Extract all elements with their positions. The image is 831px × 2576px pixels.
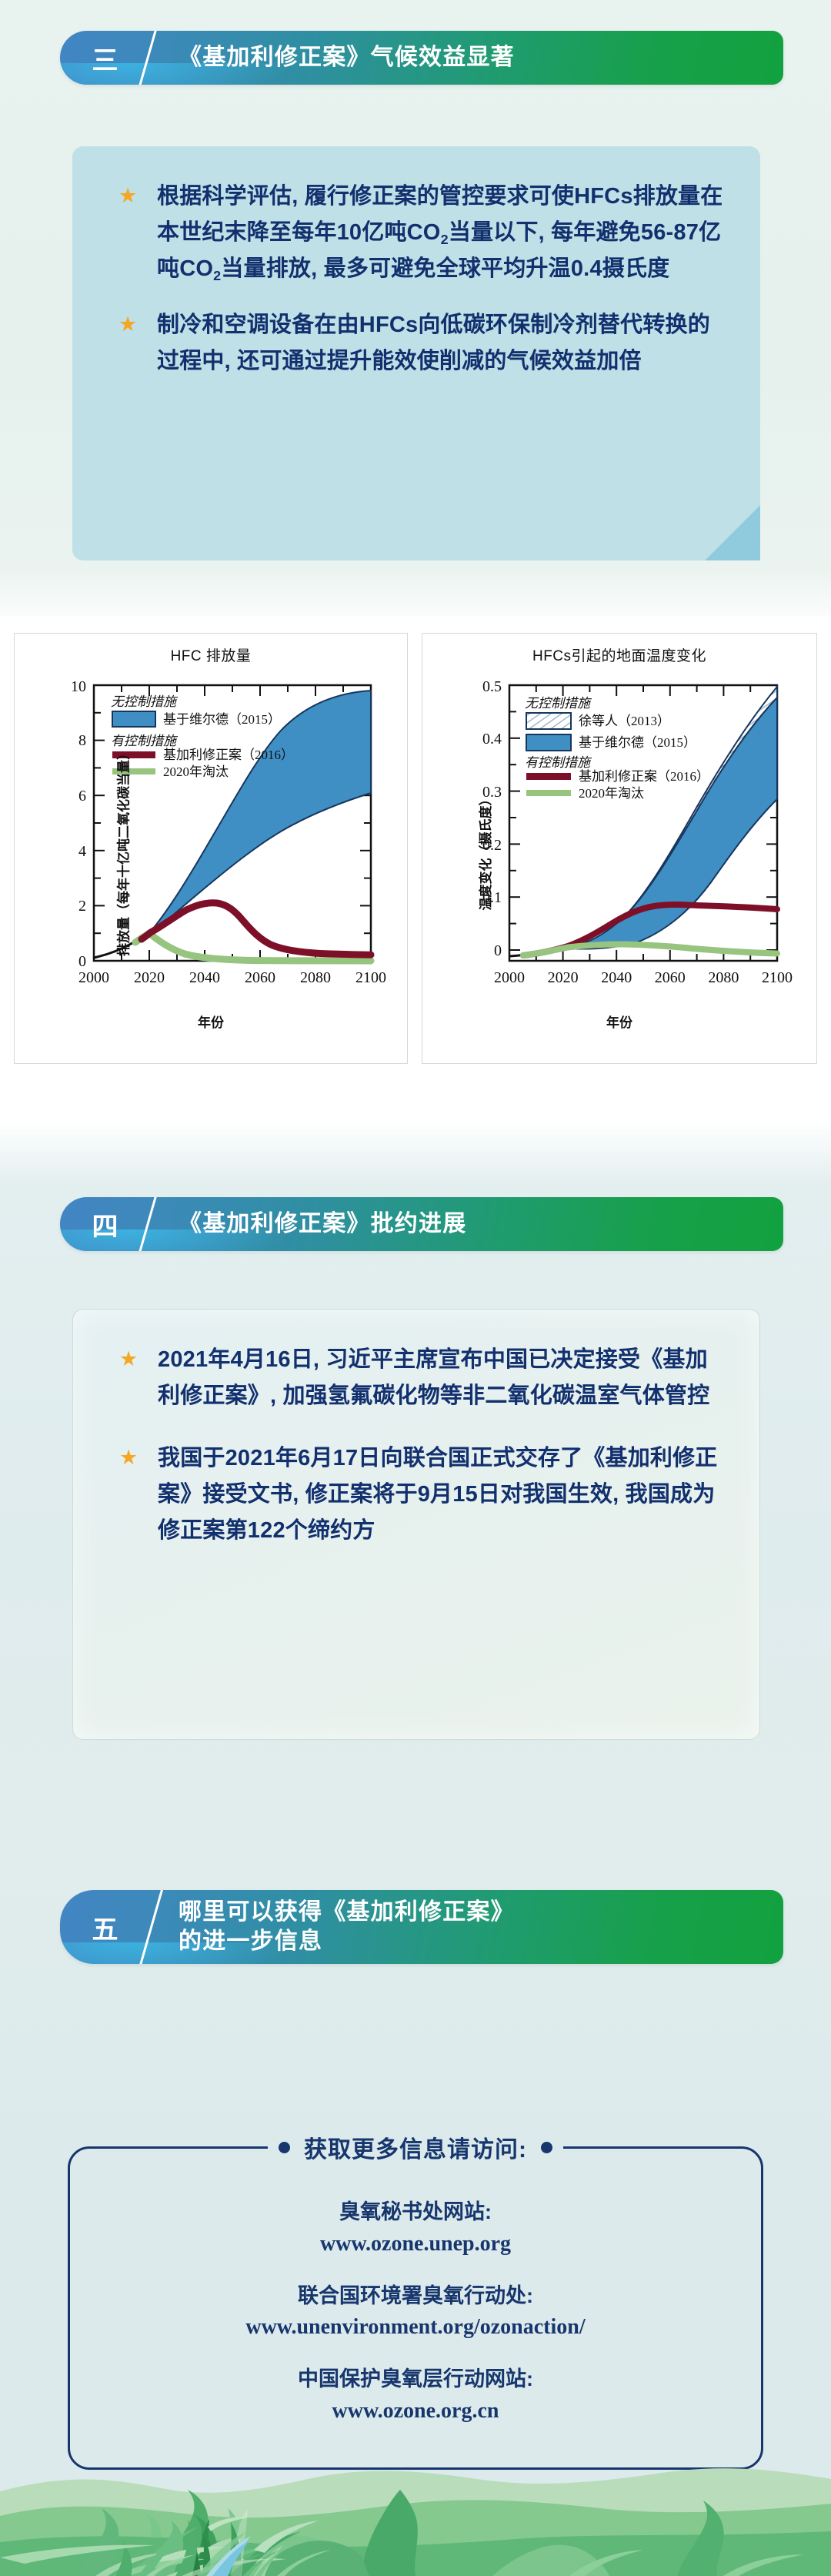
- y-tick-label: 0.4: [482, 731, 502, 748]
- bullet-list-3: ★ 根据科学评估, 履行修正案的管控要求可使HFCs排放量在本世纪末降至每年10…: [115, 179, 729, 400]
- legend-entry-label: 2020年淘汰: [163, 764, 229, 779]
- y-tick-label: 0.5: [482, 678, 502, 695]
- chart-hfc-temperature: HFCs引起的地面温度变化 温度变化（摄氏度）: [422, 633, 817, 1064]
- legend-entry-label: 2020年淘汰: [579, 786, 644, 801]
- y-tick-label: 8: [78, 732, 86, 749]
- bullet-text: 根据科学评估, 履行修正案的管控要求可使HFCs排放量在本世纪末降至每年10亿吨…: [157, 184, 723, 281]
- y-tick-label: 10: [71, 678, 86, 695]
- section-title-3: 《基加利修正案》气候效益显著: [179, 43, 515, 72]
- x-tick-label: 2080: [300, 969, 331, 986]
- y-tick-label: 4: [78, 843, 86, 860]
- y-tick-label: 0: [494, 942, 502, 959]
- contact-label: 联合国环境署臭氧行动处:: [70, 2280, 761, 2312]
- chart-y-axis-label: 温度变化（摄氏度）: [475, 792, 494, 910]
- legend-entry-label: 基加利修正案（2016）: [579, 769, 709, 784]
- plot-area: 排放量（每年十亿吨二氧化碳当量）: [15, 671, 407, 1031]
- section-title-5: 哪里可以获得《基加利修正案》 的进一步信息: [179, 1898, 515, 1957]
- section-number-4: 四: [60, 1206, 151, 1243]
- chart-x-axis-label: 年份: [15, 1012, 407, 1031]
- content-card-3: ★ 根据科学评估, 履行修正案的管控要求可使HFCs排放量在本世纪末降至每年10…: [72, 146, 760, 560]
- contact-heading: 获取更多信息请访问:: [304, 2130, 527, 2164]
- contact-item: 臭氧秘书处网站: www.ozone.unep.org: [70, 2196, 761, 2260]
- x-tick-label: 2100: [762, 969, 793, 986]
- chart-svg: 0 2 4 6 8 10 2000 2020 2040 2060 2080 21…: [34, 671, 388, 1010]
- legend-entry-label: 基加利修正案（2016）: [163, 748, 294, 762]
- x-tick-label: 2040: [189, 969, 220, 986]
- y-tick-label: 0: [78, 953, 86, 970]
- section-header-5: 五 哪里可以获得《基加利修正案》 的进一步信息: [60, 1890, 783, 1964]
- bullet-text: 我国于2021年6月17日向联合国正式交存了《基加利修正案》接受文书, 修正案将…: [158, 1446, 718, 1543]
- legend-swatch-phaseout: [526, 790, 571, 796]
- plot-area: 温度变化（摄氏度）: [422, 671, 816, 1031]
- chart-title: HFCs引起的地面温度变化: [422, 644, 816, 665]
- bullet-dot-icon: [541, 2142, 552, 2153]
- legend-swatch-velders: [526, 734, 571, 751]
- legend-group-heading: 无控制措施: [525, 696, 592, 711]
- x-tick-label: 2020: [548, 969, 579, 986]
- section-header-4: 四 《基加利修正案》批约进展: [60, 1197, 783, 1251]
- card-fold-shadow: [705, 505, 760, 560]
- bullet-dot-icon: [279, 2142, 290, 2153]
- x-tick-label: 2080: [708, 969, 739, 986]
- section-number-5: 五: [60, 1909, 151, 1946]
- x-tick-label: 2060: [245, 969, 275, 986]
- legend-group-heading: 无控制措施: [111, 694, 179, 709]
- legend-group-heading: 有控制措施: [525, 755, 592, 770]
- x-tick-label: 2100: [355, 969, 386, 986]
- star-icon: ★: [118, 186, 137, 206]
- star-icon: ★: [119, 1349, 138, 1370]
- bullet-text: 2021年4月16日, 习近平主席宣布中国已决定接受《基加利修正案》, 加强氢氟…: [158, 1347, 709, 1408]
- chart-y-axis-label: 排放量（每年十亿吨二氧化碳当量）: [113, 747, 132, 956]
- legend-swatch-band: [112, 711, 155, 727]
- contact-label: 中国保护臭氧层行动网站:: [70, 2364, 761, 2395]
- list-item: ★ 制冷和空调设备在由HFCs向低碳环保制冷剂替代转换的过程中, 还可通过提升能…: [115, 307, 729, 380]
- star-icon: ★: [119, 1447, 138, 1468]
- bottom-scenery-illustration: [0, 2399, 831, 2576]
- contact-heading-wrap: 获取更多信息请访问:: [70, 2130, 761, 2164]
- chart-x-axis-label: 年份: [422, 1012, 816, 1031]
- x-tick-label: 2000: [494, 969, 525, 986]
- y-tick-label: 6: [78, 788, 86, 805]
- list-item: ★ 根据科学评估, 履行修正案的管控要求可使HFCs排放量在本世纪末降至每年10…: [115, 179, 729, 287]
- contact-url[interactable]: www.ozone.unep.org: [70, 2228, 761, 2260]
- legend-entry-label: 基于维尔德（2015）: [163, 712, 281, 727]
- content-card-4: ★ 2021年4月16日, 习近平主席宣布中国已决定接受《基加利修正案》, 加强…: [72, 1309, 760, 1740]
- x-tick-label: 2060: [655, 969, 686, 986]
- charts-region: HFC 排放量 排放量（每年十亿吨二氧化碳当量）: [0, 616, 831, 1078]
- x-tick-label: 2000: [78, 969, 109, 986]
- list-item: ★ 2021年4月16日, 习近平主席宣布中国已决定接受《基加利修正案》, 加强…: [116, 1342, 729, 1414]
- legend-swatch-xu: [526, 713, 571, 729]
- list-item: ★ 我国于2021年6月17日向联合国正式交存了《基加利修正案》接受文书, 修正…: [116, 1440, 729, 1549]
- x-tick-label: 2020: [134, 969, 165, 986]
- legend-swatch-kigali: [526, 773, 571, 780]
- section-title-4: 《基加利修正案》批约进展: [179, 1209, 466, 1239]
- contact-label: 臭氧秘书处网站:: [70, 2196, 761, 2228]
- star-icon: ★: [118, 314, 137, 335]
- bullet-text: 制冷和空调设备在由HFCs向低碳环保制冷剂替代转换的过程中, 还可通过提升能效使…: [157, 313, 710, 373]
- legend-entry-label: 基于维尔德（2015）: [579, 735, 696, 750]
- x-tick-label: 2040: [601, 969, 632, 986]
- y-tick-label: 2: [78, 898, 86, 915]
- section-header-3: 三 《基加利修正案》气候效益显著: [60, 31, 783, 85]
- chart-title: HFC 排放量: [15, 644, 407, 665]
- section-number-3: 三: [60, 39, 151, 77]
- chart-hfc-emissions: HFC 排放量 排放量（每年十亿吨二氧化碳当量）: [14, 633, 408, 1064]
- bullet-list-4: ★ 2021年4月16日, 习近平主席宣布中国已决定接受《基加利修正案》, 加强…: [116, 1342, 729, 1575]
- legend-entry-label: 徐等人（2013）: [579, 714, 670, 728]
- contact-url[interactable]: www.unenvironment.org/ozonaction/: [70, 2311, 761, 2343]
- contact-item: 联合国环境署臭氧行动处: www.unenvironment.org/ozona…: [70, 2280, 761, 2344]
